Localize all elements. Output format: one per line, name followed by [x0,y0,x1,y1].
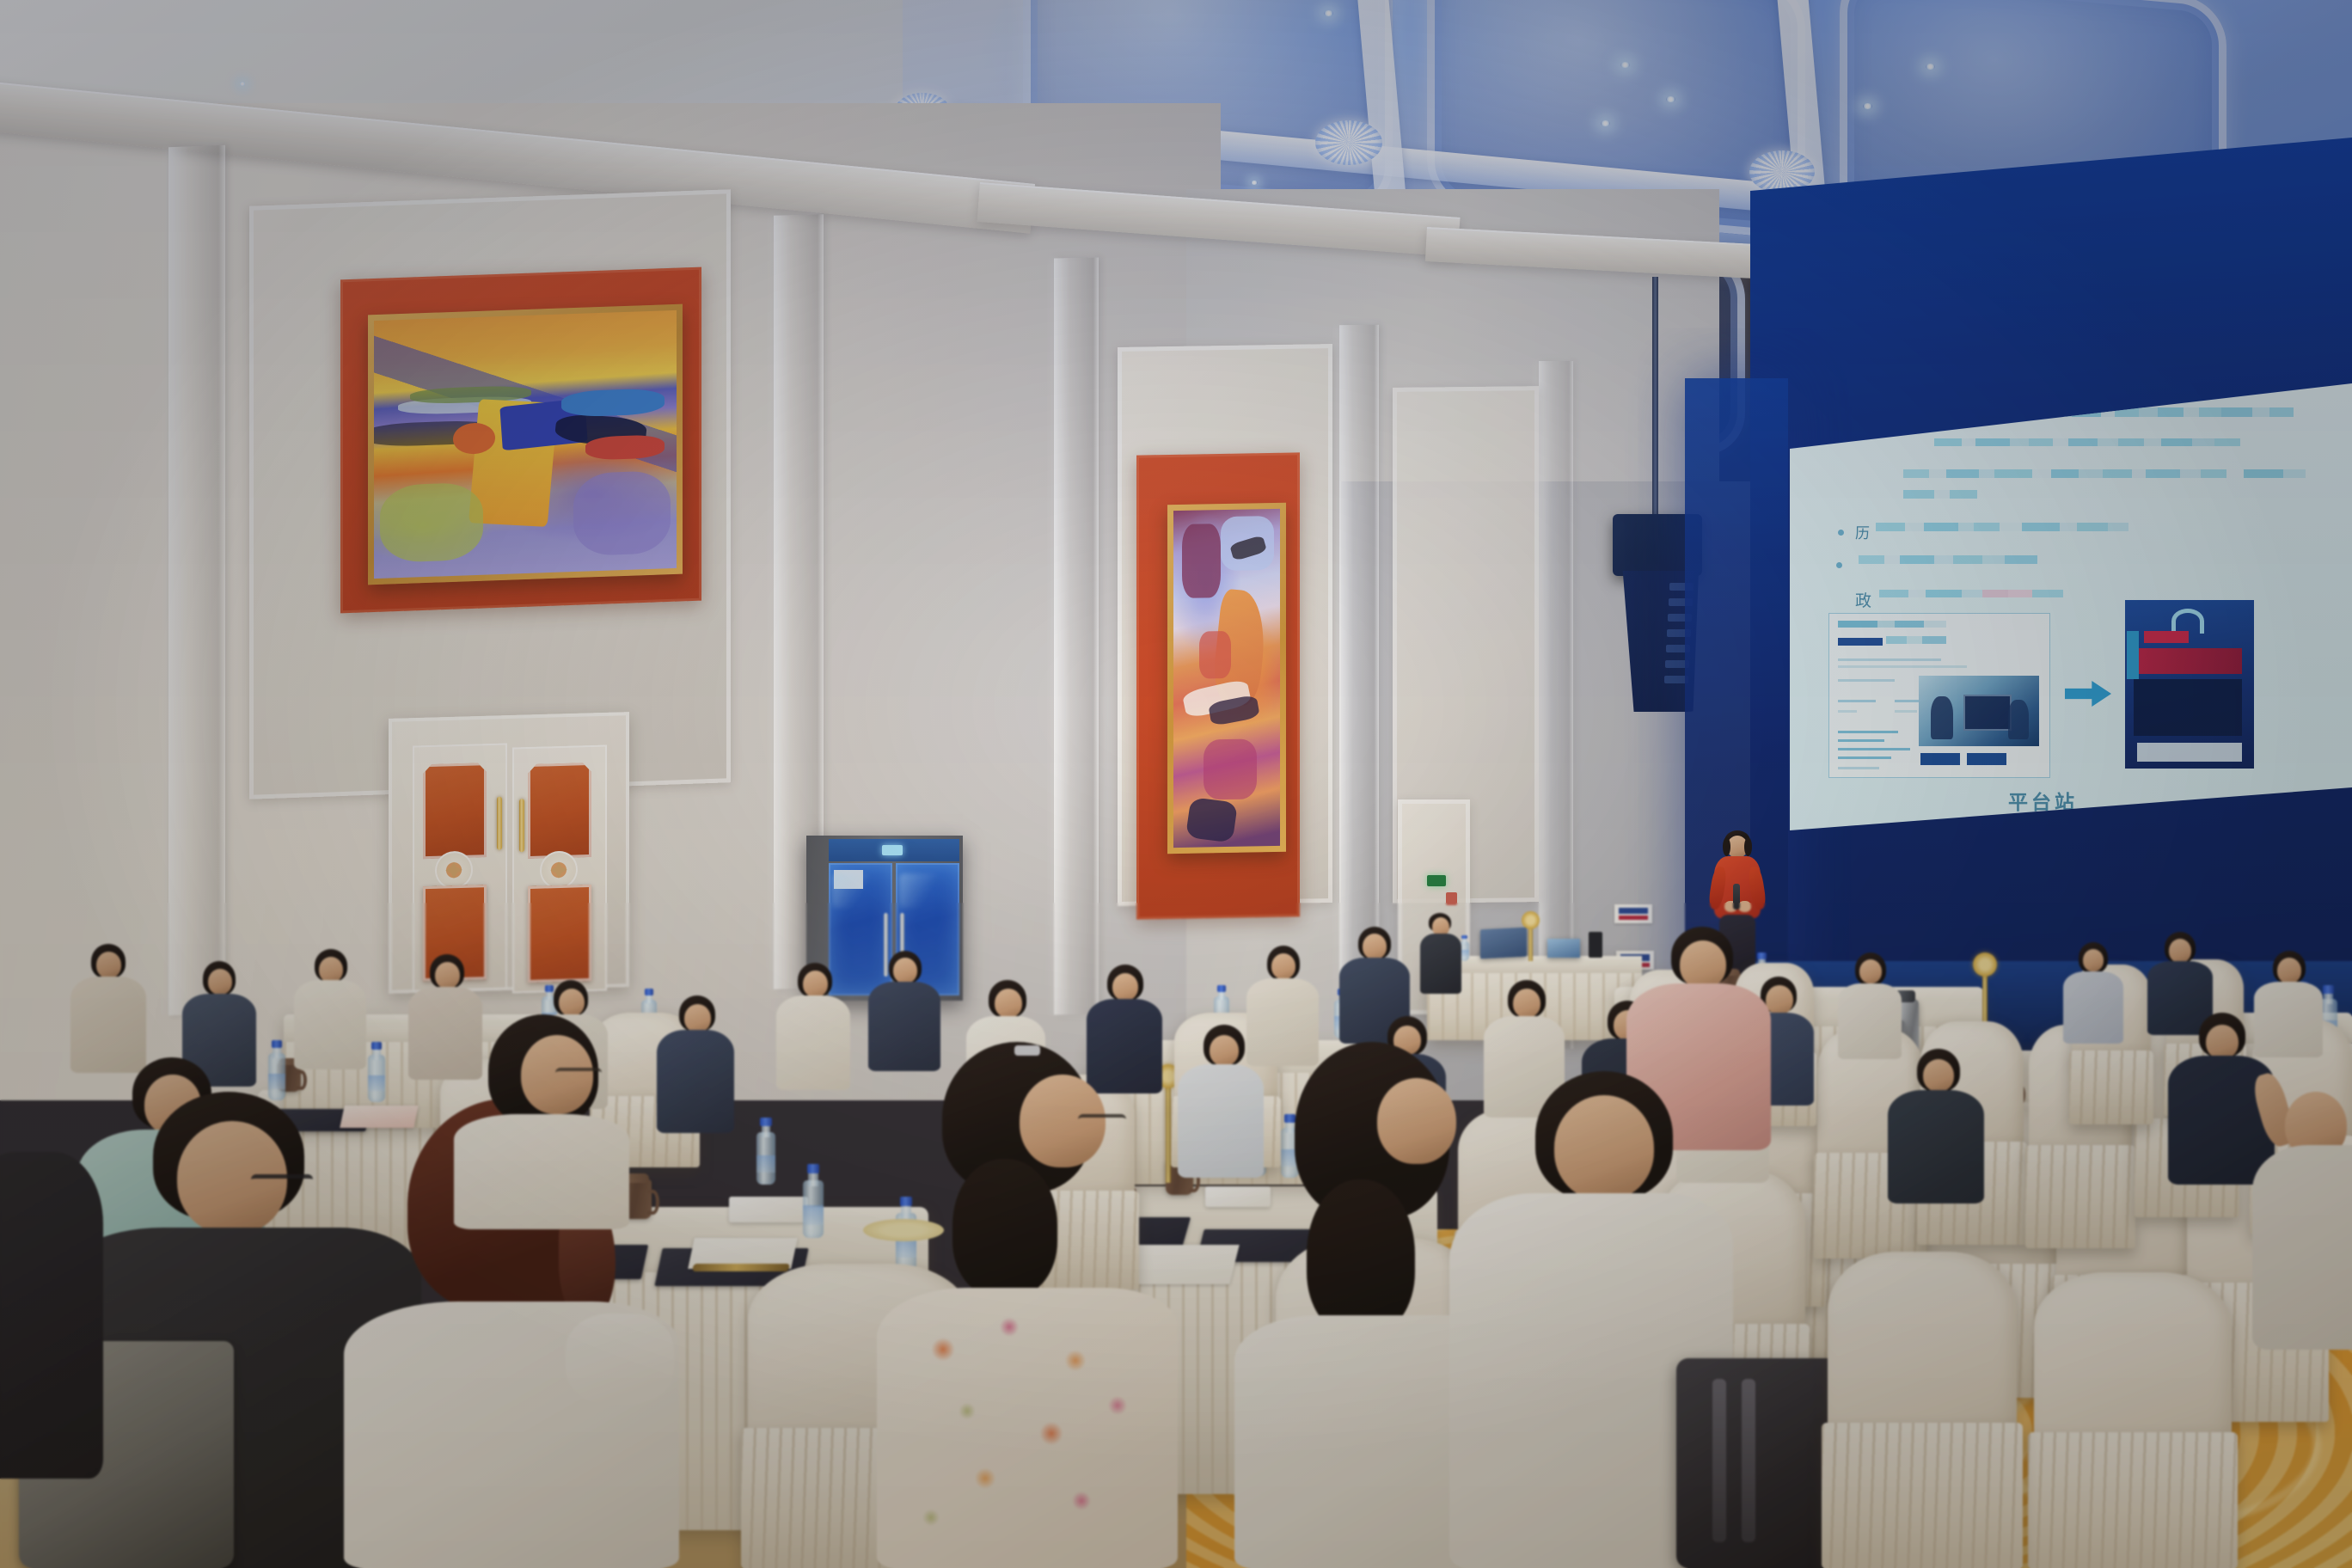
presenter-hand [1738,901,1751,912]
head [684,1004,711,1032]
audience-member-edge-right [2252,1092,2352,1350]
screenshot-button-primary[interactable] [1920,753,1960,765]
head [319,957,343,983]
slide-bullet-redacted [1859,555,2134,573]
head [2277,958,2301,983]
shirt [1838,983,1902,1059]
app-input-field[interactable] [2137,743,2242,762]
head [1680,940,1726,989]
ponytail [952,1159,1057,1296]
av-operator [1418,913,1463,1023]
door-panel [528,885,591,983]
folded-napkin [729,1197,808,1222]
wall-pilaster [168,145,225,1016]
slide-bullet-redacted [1876,523,2237,540]
head [2083,949,2104,971]
screenshot-heading-redacted [1838,621,1967,629]
speaker-suspension-rod [1652,277,1658,518]
wall-pilaster [1054,258,1099,1015]
screenshot-textline [1838,748,1910,750]
abstract-tall-painting [1173,509,1280,848]
ceiling-rosette [1315,120,1382,165]
audience-member [69,944,148,1073]
head [1554,1095,1654,1200]
screenshot-textline [1838,731,1898,733]
eyeglasses [251,1174,313,1192]
app-content-area [2134,679,2242,736]
shirt [776,995,850,1090]
painting-frame-portrait [1167,503,1286,854]
water-bottle [803,1164,824,1238]
head [1859,959,1882,983]
ceiling-downlight [239,82,246,86]
woman-floral-blouse [860,1042,1178,1568]
floral-blouse [877,1288,1178,1568]
head [1112,973,1138,1001]
hair-clip [1014,1045,1040,1056]
door-panel [423,763,487,859]
audience-member [2061,942,2125,1044]
av-laptop[interactable] [1547,939,1580,958]
head [208,969,232,995]
slide-text-fragment: 政 [1855,588,1875,611]
screenshot-textline [1838,710,1857,713]
screenshot-textline [1895,710,1917,713]
cooler-display [882,845,903,855]
conference-hall-photo: 历 政 [0,0,2352,1568]
head [1513,989,1540,1018]
audience-member [774,963,853,1090]
shirt [1888,1090,1984,1204]
ceiling-downlight [1863,103,1872,109]
water-bottle [756,1118,775,1185]
slide-text-fragment: 历 [1855,521,1873,542]
door-panel [528,763,591,859]
head [435,962,460,989]
door-handle[interactable] [519,799,524,852]
ceiling-downlight [1666,96,1675,102]
banquet-chair-with-cover [1828,1252,2017,1568]
screenshot-subtext-redacted [1886,636,1965,646]
head [1923,1059,1954,1092]
presenter-hair-side [1723,837,1730,856]
slide-bullet-marker [1836,562,1842,568]
head [893,958,917,983]
head [559,989,585,1016]
ceiling-downlight [1601,120,1610,126]
shirt [2252,1145,2352,1350]
head [96,952,121,978]
cooler-notice-label [834,870,863,889]
placard-accent [1619,916,1648,920]
slide-bullet-marker [1838,530,1844,536]
eyeglasses [555,1068,602,1083]
slide-screenshot-left [1829,614,2049,777]
slide-paragraph-redacted [1903,469,2333,511]
slide-arrow-icon [2065,679,2111,708]
screenshot-textline [1838,658,1941,661]
screenshot-textline [1838,665,1967,668]
door-medallion [435,851,473,890]
bag-strap [1712,1379,1726,1542]
av-speaker-monitor [1589,932,1602,958]
projection-screen: 历 政 [1790,383,2352,830]
audience-member [1836,952,1903,1059]
painting-frame-landscape [368,304,683,585]
head [2169,939,2191,963]
app-badge-red [2144,631,2189,643]
shirt [0,1152,103,1479]
ceiling-downlight [1251,181,1258,185]
table-number-disc [1522,911,1540,929]
door-leaf-right[interactable] [512,744,607,993]
photo-person-silhouette [1931,696,1953,739]
head [1363,934,1387,959]
app-sidebar-strip [2127,631,2139,679]
head [803,971,828,997]
screenshot-textline [1838,679,1895,682]
av-monitor [1480,928,1527,959]
emergency-exit-sign [1427,875,1446,886]
head [2206,1025,2239,1059]
presenter-hair-side [1744,837,1752,856]
banquet-chair-with-cover [2034,1272,2232,1568]
photo-monitor [1963,695,2012,731]
abstract-landscape-painting [374,310,677,579]
fire-alarm-marker [1446,892,1457,905]
screenshot-textline [1838,700,1876,702]
head [1377,1078,1456,1164]
screenshot-chip [1838,638,1883,646]
cooler-header [829,839,959,861]
wall-placard-upper [1614,904,1652,923]
door-handle[interactable] [497,797,502,850]
shirt [454,1114,629,1229]
app-logo-icon [2171,609,2204,634]
door-medallion [540,850,578,889]
app-banner-red [2134,648,2242,674]
screenshot-textline [1838,739,1884,742]
ceiling-downlight [1926,64,1935,70]
arm [566,1314,674,1405]
audience-member [1884,1049,1988,1204]
head [995,989,1022,1018]
shirt [2063,971,2123,1044]
screenshot-button-secondary[interactable] [1967,753,2006,765]
ceiling-downlight [1324,10,1333,16]
slide-subtitle-redacted [1934,438,2312,461]
operator-shirt [1420,934,1461,994]
ponytail [1307,1179,1415,1334]
screenshot-inner-photo [1919,676,2039,746]
bag-strap [1742,1379,1755,1542]
audience-member-edge-left [0,1118,103,1479]
audience-member [292,949,368,1069]
shirt [294,980,366,1069]
screenshot-textline [1838,756,1891,759]
head [1271,953,1295,979]
eyeglasses [1078,1114,1126,1130]
woman-with-glasses [447,1014,636,1229]
screenshot-textline [1838,767,1879,769]
placard-accent [1619,908,1648,914]
photo-person-silhouette [2008,700,2029,739]
handheld-microphone [1733,884,1740,910]
slide-screenshot-right [2125,600,2254,769]
ceiling-downlight [1620,62,1630,68]
